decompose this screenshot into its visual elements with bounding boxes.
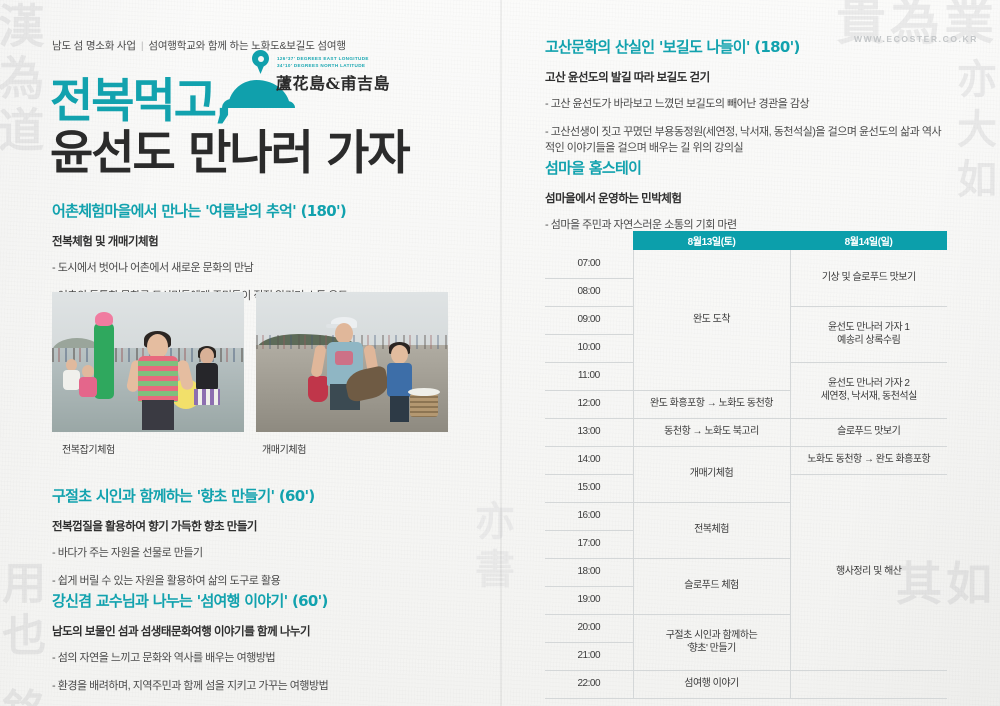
- time-slot-cell: 11:00: [545, 362, 633, 390]
- kicker-separator: |: [136, 40, 149, 52]
- time-slot-cell: 15:00: [545, 474, 633, 502]
- island-hanja-name: 蘆花島&甫吉島: [276, 70, 390, 94]
- activity-cell-sunday: 슬로푸드 맛보기: [790, 418, 947, 446]
- brochure-page: 漢為道 用也 銘 貴為業 其如 亦大如 亦書 남도 섬 명소화 사업|섬여행학교…: [0, 0, 1000, 706]
- time-slot-cell: 21:00: [545, 642, 633, 670]
- left-column: 남도 섬 명소화 사업|섬여행학교와 함께 하는 노화도&보길도 섬여행 전복먹…: [0, 0, 500, 706]
- section-title: 섬마을 홈스테이: [545, 157, 955, 178]
- activity-cell-sunday: 기상 및 슬로푸드 맛보기: [790, 250, 947, 306]
- time-slot-cell: 07:00: [545, 250, 633, 278]
- section-subtitle: 전복체험 및 개매기체험: [52, 233, 472, 249]
- kicker-tour-name: 섬여행학교와 함께 하는 노화도&보길도 섬여행: [148, 40, 345, 52]
- table-body: 07:00완도 도착기상 및 슬로푸드 맛보기08:0009:00윤선도 만나러…: [545, 250, 947, 698]
- photo-abalone-catching: [52, 292, 244, 432]
- activity-cell-saturday: 동천항 → 노화도 북고리: [633, 418, 790, 446]
- section-subtitle: 전복껍질을 활용하여 향기 가득한 향초 만들기: [52, 518, 472, 534]
- activity-cell-saturday: 구절초 시인과 함께하는'향초' 만들기: [633, 614, 790, 670]
- photo-caption: 전복잡기체험: [62, 441, 115, 456]
- time-slot-cell: 18:00: [545, 558, 633, 586]
- time-slot-cell: 09:00: [545, 306, 633, 334]
- time-slot-cell: 16:00: [545, 502, 633, 530]
- photo-caption: 개매기체험: [262, 441, 306, 456]
- headline-line-2: 윤선도 만나러 가자: [50, 114, 409, 183]
- section-title: 구절초 시인과 함께하는 '향초 만들기' (60'): [52, 485, 472, 506]
- column-header-saturday: 8월13일(토): [633, 231, 790, 250]
- activity-cell-sunday: 윤선도 만나러 가자 2세연정, 낙서재, 동천석실: [790, 362, 947, 418]
- time-slot-cell: 13:00: [545, 418, 633, 446]
- section-subtitle: 고산 윤선도의 발길 따라 보길도 걷기: [545, 69, 955, 85]
- section-title: 강신겸 교수님과 나누는 '섬여행 이야기' (60'): [52, 590, 482, 611]
- activity-cell-sunday: 윤선도 만나러 가자 1예송리 상록수림: [790, 306, 947, 362]
- activity-cell-saturday: 슬로푸드 체험: [633, 558, 790, 614]
- itinerary-table: 8월13일(토) 8월14일(일) 07:00완도 도착기상 및 슬로푸드 맛보…: [545, 231, 947, 699]
- section-bullet: - 고산선생이 짓고 꾸몄던 부용동정원(세연정, 낙서재, 동천석실)을 걸으…: [545, 124, 949, 157]
- section-bogildo-outing: 고산문학의 산실인 '보길도 나들이' (180') 고산 윤선도의 발길 따라…: [545, 36, 955, 157]
- table-header-row: 8월13일(토) 8월14일(일): [545, 231, 947, 250]
- time-slot-cell: 19:00: [545, 586, 633, 614]
- table-row: 13:00동천항 → 노화도 북고리슬로푸드 맛보기: [545, 418, 947, 446]
- coordinates-text: 126°37' DEGREES EAST LONGITUDE 34°10' DE…: [277, 56, 369, 70]
- activity-cell-saturday: 개매기체험: [633, 446, 790, 502]
- section-bullet: - 환경을 배려하며, 지역주민과 함께 섬을 지키고 가꾸는 여행방법: [52, 678, 482, 695]
- activity-cell-saturday: 전복체험: [633, 502, 790, 558]
- section-fishing-village: 어촌체험마을에서 만나는 '여름날의 추억' (180') 전복체험 및 개매기…: [52, 200, 472, 304]
- table-row: 14:00개매기체험노화도 동천항 → 완도 화흥포항: [545, 446, 947, 474]
- activity-cell-saturday: 완도 화흥포항 → 노화도 동천항: [633, 390, 790, 418]
- time-slot-cell: 14:00: [545, 446, 633, 474]
- section-bullet: - 도시에서 벗어나 어촌에서 새로운 문화의 만남: [52, 260, 472, 277]
- section-subtitle: 남도의 보물인 섬과 섬생태문화여행 이야기를 함께 나누기: [52, 623, 482, 639]
- photo-tidal-fishing: [256, 292, 448, 432]
- section-candle-making: 구절초 시인과 함께하는 '향초 만들기' (60') 전복껍질을 활용하여 향…: [52, 485, 472, 589]
- activity-cell-saturday: 섬여행 이야기: [633, 670, 790, 698]
- section-subtitle: 섬마을에서 운영하는 민박체험: [545, 190, 955, 206]
- table-row: 07:00완도 도착기상 및 슬로푸드 맛보기: [545, 250, 947, 278]
- section-bullet: - 고산 윤선도가 바라보고 느꼈던 보길도의 빼어난 경관을 감상: [545, 96, 955, 113]
- section-bullet: - 쉽게 버릴 수 있는 자원을 활용하여 삶의 도구로 활용: [52, 573, 472, 590]
- section-title: 고산문학의 산실인 '보길도 나들이' (180'): [545, 36, 955, 57]
- activity-cell-sunday: 노화도 동천항 → 완도 화흥포항: [790, 446, 947, 474]
- table-corner-cell: [545, 231, 633, 250]
- section-bullet: - 바다가 주는 자원을 선물로 만들기: [52, 545, 472, 562]
- section-bullet: - 섬의 자연을 느끼고 문화와 역사를 배우는 여행방법: [52, 650, 482, 667]
- kicker-program-name: 남도 섬 명소화 사업: [52, 40, 136, 52]
- time-slot-cell: 08:00: [545, 278, 633, 306]
- activity-cell-saturday: 완도 도착: [633, 250, 790, 390]
- section-island-homestay: 섬마을 홈스테이 섬마을에서 운영하는 민박체험 - 섬마을 주민과 자연스러운…: [545, 157, 955, 234]
- activity-cell-empty: [790, 670, 947, 698]
- map-pin-icon: [252, 50, 269, 74]
- photo-gallery: [52, 292, 448, 432]
- kicker-line: 남도 섬 명소화 사업|섬여행학교와 함께 하는 노화도&보길도 섬여행: [52, 38, 346, 53]
- time-slot-cell: 22:00: [545, 670, 633, 698]
- table-row: 22:00섬여행 이야기: [545, 670, 947, 698]
- activity-cell-sunday: 행사정리 및 해산: [790, 474, 947, 670]
- section-island-travel-story: 강신겸 교수님과 나누는 '섬여행 이야기' (60') 남도의 보물인 섬과 …: [52, 590, 482, 694]
- column-header-sunday: 8월14일(일): [790, 231, 947, 250]
- time-slot-cell: 20:00: [545, 614, 633, 642]
- time-slot-cell: 17:00: [545, 530, 633, 558]
- section-title: 어촌체험마을에서 만나는 '여름날의 추억' (180'): [52, 200, 472, 221]
- time-slot-cell: 10:00: [545, 334, 633, 362]
- time-slot-cell: 12:00: [545, 390, 633, 418]
